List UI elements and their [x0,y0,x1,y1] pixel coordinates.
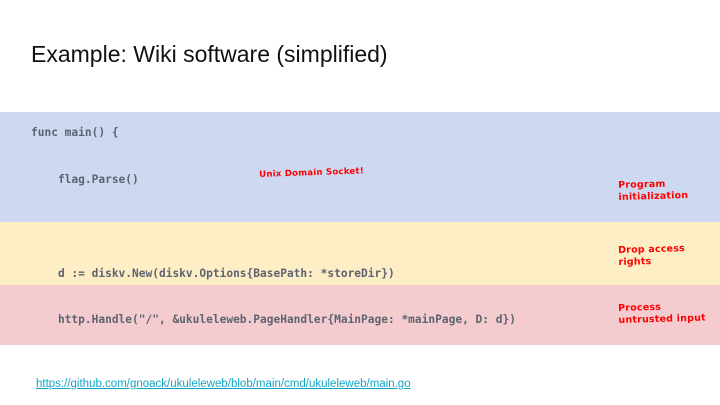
source-url-link[interactable]: https://github.com/gnoack/ukuleleweb/blo… [36,378,411,390]
annotation-program-initialization: Program initialization [618,178,688,204]
annotation-line: untrusted input [618,313,706,327]
annotation-line: Drop access [618,243,685,257]
code-line-blank [31,219,516,235]
code-block: func main() { flag.Parse() d := diskv.Ne… [31,94,516,405]
annotation-drop-access-rights: Drop access rights [618,243,685,269]
code-line-blank [31,359,516,375]
slide-canvas: Example: Wiki software (simplified) func… [0,0,720,405]
code-line: http.Handle("/", &ukuleleweb.PageHandler… [31,312,516,328]
page-title: Example: Wiki software (simplified) [31,41,388,68]
code-line: func main() { [31,125,516,141]
annotation-line: rights [618,255,685,269]
code-line: d := diskv.New(diskv.Options{BasePath: *… [31,266,516,282]
annotation-line: initialization [618,190,688,204]
annotation-process-untrusted-input: Process untrusted input [618,301,706,327]
